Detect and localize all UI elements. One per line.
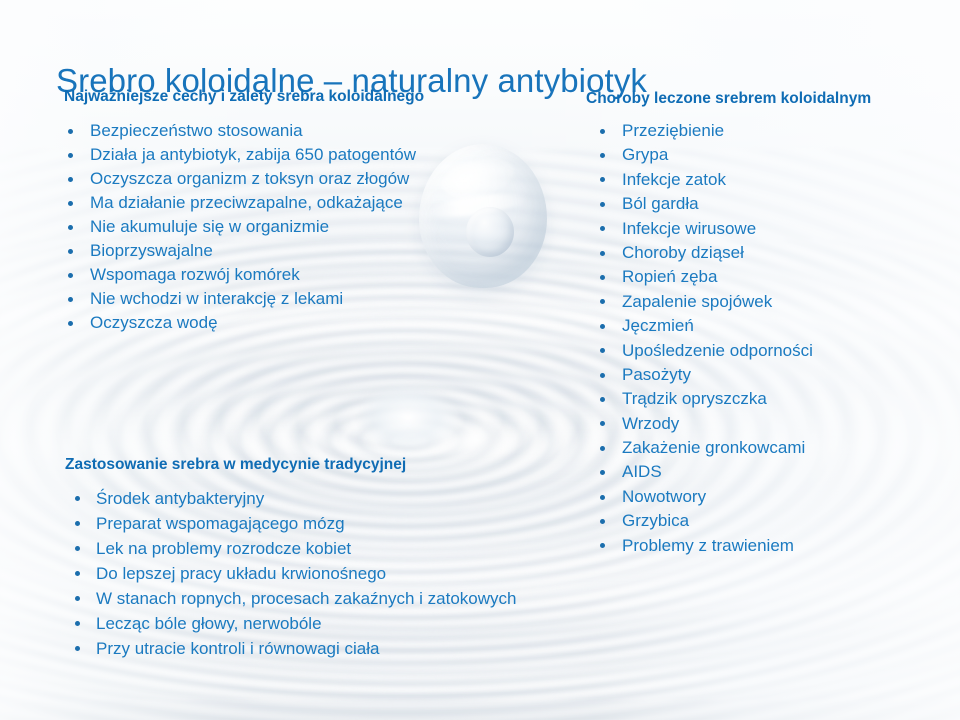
list-item: Nie akumuluje się w organizmie (68, 215, 416, 239)
list-item: Upośledzenie odporności (600, 339, 813, 363)
list-item: Infekcje wirusowe (600, 217, 813, 241)
bullet-dot-icon (75, 546, 80, 551)
features-bullet-list: Bezpieczeństwo stosowaniaDziała ja antyb… (68, 119, 416, 335)
list-item: Grypa (600, 143, 813, 167)
list-item: Infekcje zatok (600, 168, 813, 192)
list-item: Lecząc bóle głowy, nerwobóle (75, 611, 516, 636)
bullet-dot-icon (600, 348, 605, 353)
list-item: Jęczmień (600, 314, 813, 338)
bullet-dot-icon (68, 129, 73, 134)
slide: Srebro koloidalne – naturalny antybiotyk… (0, 0, 960, 720)
list-item-label: Bezpieczeństwo stosowania (90, 121, 303, 140)
bullet-dot-icon (600, 299, 605, 304)
list-item: Choroby dziąseł (600, 241, 813, 265)
list-item-label: Lek na problemy rozrodcze kobiet (96, 539, 351, 558)
bullet-dot-icon (68, 153, 73, 158)
list-item-label: Zakażenie gronkowcami (622, 438, 805, 457)
list-item-label: Pasożyty (622, 365, 691, 384)
list-item: Zakażenie gronkowcami (600, 436, 813, 460)
bullet-dot-icon (600, 324, 605, 329)
list-item: Nie wchodzi w interakcję z lekami (68, 287, 416, 311)
slide-content: Srebro koloidalne – naturalny antybiotyk… (0, 0, 960, 720)
bullet-dot-icon (75, 596, 80, 601)
list-item-label: Infekcje zatok (622, 170, 726, 189)
list-item: Wspomaga rozwój komórek (68, 263, 416, 287)
list-item-label: Jęczmień (622, 316, 694, 335)
bullet-dot-icon (75, 496, 80, 501)
list-item: Preparat wspomagającego mózg (75, 511, 516, 536)
bullet-dot-icon (600, 373, 605, 378)
list-item: Przy utracie kontroli i równowagi ciała (75, 636, 516, 661)
list-item-label: Nowotwory (622, 487, 706, 506)
list-item-label: Wrzody (622, 414, 679, 433)
list-item-label: Grzybica (622, 511, 689, 530)
list-item-label: Problemy z trawieniem (622, 536, 794, 555)
list-item: Do lepszej pracy układu krwionośnego (75, 561, 516, 586)
list-item-label: Do lepszej pracy układu krwionośnego (96, 564, 386, 583)
list-item-label: Bioprzyswajalne (90, 241, 213, 260)
bullet-dot-icon (600, 421, 605, 426)
bullet-dot-icon (75, 621, 80, 626)
list-item: Ma działanie przeciwzapalne, odkażające (68, 191, 416, 215)
traditional-medicine-section-heading: Zastosowanie srebra w medycynie tradycyj… (65, 456, 406, 474)
list-item: Problemy z trawieniem (600, 534, 813, 558)
list-item-label: Upośledzenie odporności (622, 341, 813, 360)
list-item: Wrzody (600, 412, 813, 436)
list-item-label: Zapalenie spojówek (622, 292, 772, 311)
list-item-label: Infekcje wirusowe (622, 219, 756, 238)
list-item-label: Choroby dziąseł (622, 243, 744, 262)
features-section-heading: Najważniejsze cechy i zalety srebra kolo… (64, 88, 424, 106)
list-item: Oczyszcza organizm z toksyn oraz złogów (68, 167, 416, 191)
list-item: Ból gardła (600, 192, 813, 216)
bullet-dot-icon (600, 519, 605, 524)
bullet-dot-icon (600, 495, 605, 500)
bullet-dot-icon (600, 446, 605, 451)
bullet-dot-icon (600, 177, 605, 182)
list-item: Ropień zęba (600, 265, 813, 289)
bullet-dot-icon (600, 470, 605, 475)
list-item: Trądzik opryszczka (600, 387, 813, 411)
list-item-label: Preparat wspomagającego mózg (96, 514, 345, 533)
bullet-dot-icon (600, 251, 605, 256)
diseases-bullet-list: PrzeziębienieGrypaInfekcje zatokBól gard… (600, 119, 813, 558)
bullet-dot-icon (68, 321, 73, 326)
bullet-dot-icon (68, 249, 73, 254)
list-item-label: Lecząc bóle głowy, nerwobóle (96, 614, 322, 633)
bullet-dot-icon (68, 201, 73, 206)
list-item-label: Przy utracie kontroli i równowagi ciała (96, 639, 379, 658)
list-item-label: W stanach ropnych, procesach zakaźnych i… (96, 589, 516, 608)
list-item-label: Grypa (622, 145, 668, 164)
bullet-dot-icon (68, 297, 73, 302)
list-item-label: Oczyszcza wodę (90, 313, 218, 332)
bullet-dot-icon (600, 129, 605, 134)
list-item: Oczyszcza wodę (68, 311, 416, 335)
list-item: Przeziębienie (600, 119, 813, 143)
list-item: AIDS (600, 460, 813, 484)
list-item-label: Nie wchodzi w interakcję z lekami (90, 289, 343, 308)
bullet-dot-icon (68, 225, 73, 230)
list-item: W stanach ropnych, procesach zakaźnych i… (75, 586, 516, 611)
list-item: Środek antybakteryjny (75, 486, 516, 511)
list-item-label: Przeziębienie (622, 121, 724, 140)
list-item: Bioprzyswajalne (68, 239, 416, 263)
bullet-dot-icon (600, 543, 605, 548)
list-item-label: Ból gardła (622, 194, 699, 213)
bullet-dot-icon (75, 571, 80, 576)
list-item-label: Środek antybakteryjny (96, 489, 264, 508)
bullet-dot-icon (75, 646, 80, 651)
list-item: Działa ja antybiotyk, zabija 650 patogen… (68, 143, 416, 167)
list-item-label: Wspomaga rozwój komórek (90, 265, 300, 284)
list-item-label: Działa ja antybiotyk, zabija 650 patogen… (90, 145, 416, 164)
list-item-label: Trądzik opryszczka (622, 389, 767, 408)
diseases-section-heading: Choroby leczone srebrem koloidalnym (586, 90, 871, 108)
bullet-dot-icon (600, 226, 605, 231)
list-item: Nowotwory (600, 485, 813, 509)
bullet-dot-icon (600, 275, 605, 280)
list-item: Pasożyty (600, 363, 813, 387)
bullet-dot-icon (600, 153, 605, 158)
traditional-medicine-bullet-list: Środek antybakteryjnyPreparat wspomagają… (75, 486, 516, 661)
bullet-dot-icon (68, 273, 73, 278)
list-item-label: Ma działanie przeciwzapalne, odkażające (90, 193, 403, 212)
bullet-dot-icon (600, 202, 605, 207)
list-item: Lek na problemy rozrodcze kobiet (75, 536, 516, 561)
bullet-dot-icon (75, 521, 80, 526)
list-item: Zapalenie spojówek (600, 290, 813, 314)
list-item-label: AIDS (622, 462, 662, 481)
list-item-label: Oczyszcza organizm z toksyn oraz złogów (90, 169, 409, 188)
list-item: Bezpieczeństwo stosowania (68, 119, 416, 143)
list-item-label: Nie akumuluje się w organizmie (90, 217, 329, 236)
bullet-dot-icon (68, 177, 73, 182)
list-item-label: Ropień zęba (622, 267, 717, 286)
list-item: Grzybica (600, 509, 813, 533)
bullet-dot-icon (600, 397, 605, 402)
